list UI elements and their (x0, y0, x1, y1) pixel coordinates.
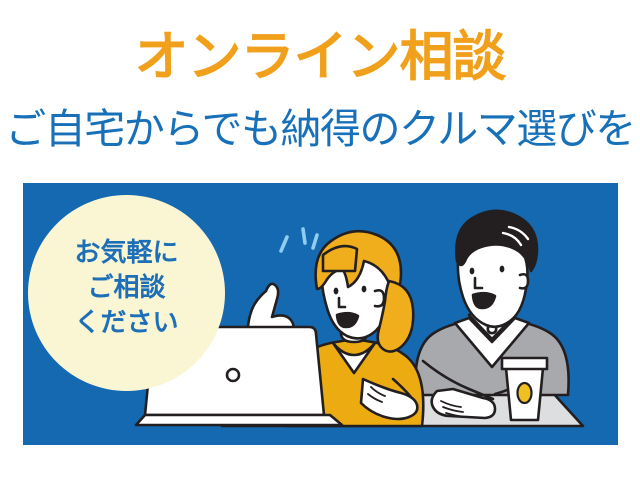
coffee-cup-logo-icon (518, 383, 532, 403)
callout-line-1: お気軽に (28, 235, 225, 270)
illustration-panel: お気軽に ご相談 ください (23, 183, 618, 445)
online-consultation-banner: オンライン相談 ご自宅からでも納得のクルマ選びを (0, 0, 640, 480)
callout-text: お気軽に ご相談 ください (28, 235, 225, 340)
man-ear (520, 274, 528, 288)
sparkle-icon (281, 237, 287, 251)
page-title: オンライン相談 (0, 26, 640, 88)
woman-eye-left (334, 288, 339, 295)
callout-bubble: お気軽に ご相談 ください (28, 195, 225, 391)
laptop-logo-icon (227, 369, 239, 381)
page-subtitle: ご自宅からでも納得のクルマ選びを (0, 104, 640, 154)
man-eye-right (500, 266, 505, 273)
man-eye-left (470, 268, 475, 275)
callout-line-2: ご相談 (28, 270, 225, 305)
woman-eye-right (362, 286, 367, 293)
woman-ear (375, 290, 384, 306)
callout-line-3: ください (28, 305, 225, 340)
sparkle-icon (303, 229, 305, 243)
laptop-base (136, 415, 342, 425)
sparkle-icon (313, 235, 317, 248)
coffee-cup-lid (502, 358, 547, 369)
